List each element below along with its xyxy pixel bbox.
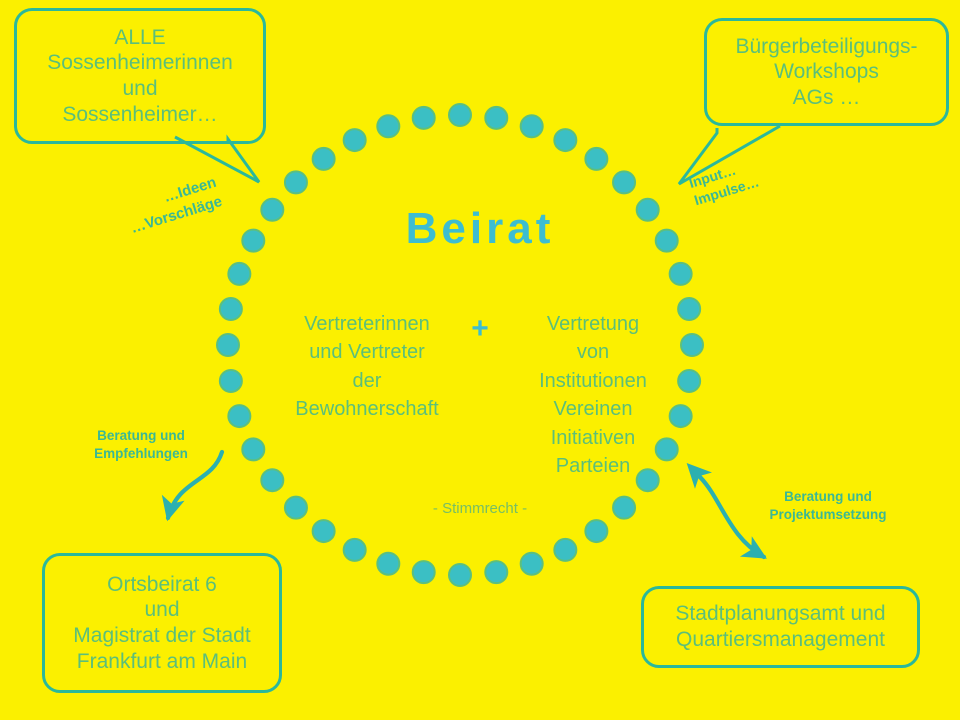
circle-dot	[613, 171, 635, 193]
box-ortsbeirat-text: Ortsbeirat 6 und Magistrat der Stadt Fra…	[45, 572, 279, 674]
plus-icon: +	[456, 310, 504, 348]
circle-dot	[485, 561, 507, 583]
diagram-canvas: ALLE Sossenheimerinnen und Sossenheimer……	[0, 0, 960, 720]
annotation-beratung-projektumsetzung: Beratung und Projektumsetzung	[748, 488, 908, 523]
circle-dot	[554, 129, 576, 151]
circle-dot	[485, 107, 507, 129]
speech-bubble-residents[interactable]: ALLE Sossenheimerinnen und Sossenheimer…	[14, 8, 266, 144]
circle-dot	[285, 171, 307, 193]
circle-dot	[228, 405, 250, 427]
circle-dot	[377, 115, 399, 137]
speech-bubble-workshops-text: Bürgerbeteiligungs- Workshops AGs …	[707, 34, 946, 111]
circle-dot	[220, 298, 242, 320]
circle-dot	[228, 263, 250, 285]
column-representatives: Vertreterinnen und Vertreter der Bewohne…	[278, 310, 456, 424]
box-ortsbeirat[interactable]: Ortsbeirat 6 und Magistrat der Stadt Fra…	[42, 553, 282, 693]
circle-dot	[313, 520, 335, 542]
speech-bubble-workshops[interactable]: Bürgerbeteiligungs- Workshops AGs …	[704, 18, 949, 126]
circle-dot	[413, 561, 435, 583]
speech-bubble-residents-text: ALLE Sossenheimerinnen und Sossenheimer…	[17, 25, 263, 127]
column-institutions: Vertretung von Institutionen Vereinen In…	[504, 310, 682, 480]
circle-dot	[377, 553, 399, 575]
annotation-input: Input… Impulse…	[687, 155, 762, 209]
circle-dot	[344, 539, 366, 561]
circle-dot	[521, 553, 543, 575]
circle-dot	[449, 564, 471, 586]
center-columns: Vertreterinnen und Vertreter der Bewohne…	[255, 310, 705, 480]
circle-dot	[413, 107, 435, 129]
box-stadtplanung-text: Stadtplanungsamt und Quartiersmanagement	[644, 601, 917, 652]
circle-dot	[585, 520, 607, 542]
circle-dot	[521, 115, 543, 137]
circle-dot	[220, 370, 242, 392]
box-stadtplanung[interactable]: Stadtplanungsamt und Quartiersmanagement	[641, 586, 920, 668]
circle-dot	[313, 148, 335, 170]
circle-dot	[670, 263, 692, 285]
circle-dot	[217, 334, 239, 356]
circle-dot	[449, 104, 471, 126]
circle-dot	[344, 129, 366, 151]
circle-dot	[585, 148, 607, 170]
annotation-beratung-empfehlungen: Beratung und Empfehlungen	[76, 427, 206, 462]
circle-dot	[554, 539, 576, 561]
